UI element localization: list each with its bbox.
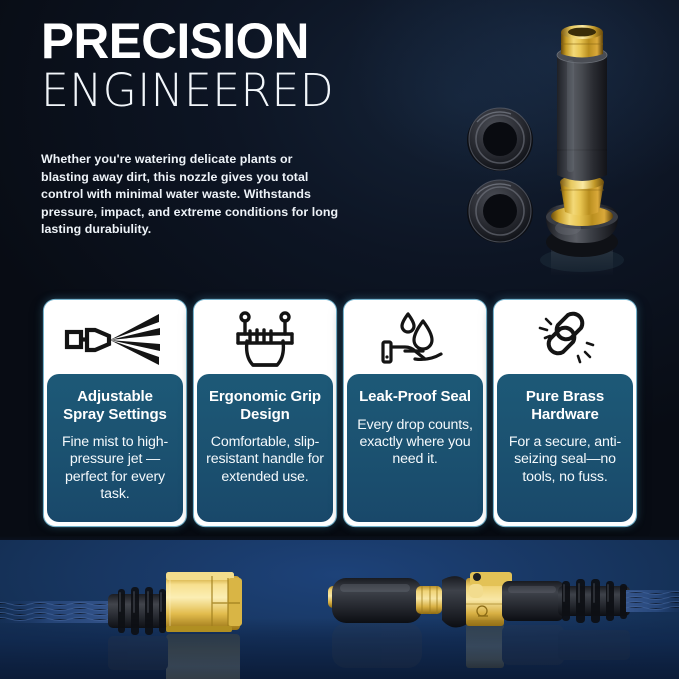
product-infographic: PRECISION ENGINEERED Whether you're wate…: [0, 0, 679, 679]
brass-base-ring: [551, 175, 613, 226]
feature-card-title: Adjustable Spray Settings: [55, 388, 175, 423]
spray-nozzle-icon: [44, 300, 186, 380]
chain-link-sparkle-icon: [494, 300, 636, 380]
hose-nozzle-scene-right: [306, 548, 679, 679]
strain-relief: [108, 587, 168, 635]
gripping-hand-icon: [194, 300, 336, 380]
feature-card-description: Comfortable, slip-resistant handle for e…: [205, 434, 325, 486]
feature-card-title: Ergonomic Grip Design: [205, 388, 325, 423]
hose-fabric-right: [626, 590, 679, 612]
headline: PRECISION ENGINEERED: [41, 18, 441, 113]
hero-product-image: [455, 10, 679, 290]
headline-line-2: ENGINEERED: [41, 68, 433, 113]
nozzle-barrel: [328, 578, 442, 623]
feature-card-body: Adjustable Spray Settings Fine mist to h…: [47, 374, 183, 522]
hose-collar: [502, 581, 564, 621]
feature-card-ergonomic-grip[interactable]: Ergonomic Grip Design Comfortable, slip-…: [194, 300, 336, 526]
feature-card-body: Ergonomic Grip Design Comfortable, slip-…: [197, 374, 333, 522]
intro-paragraph: Whether you're watering delicate plants …: [41, 151, 341, 239]
brass-coupler: [166, 572, 242, 632]
feature-card-description: Every drop counts, exactly where you nee…: [355, 417, 475, 469]
feature-card-title: Leak-Proof Seal: [355, 388, 475, 406]
washer-ring-lower: [467, 180, 533, 243]
brass-shutoff-valve: [442, 572, 512, 628]
brass-collar: [561, 25, 603, 58]
feature-card-description: Fine mist to high-pressure jet — perfect…: [55, 434, 175, 503]
headline-line-1: PRECISION: [41, 18, 437, 66]
hand-water-drop-icon: [344, 300, 486, 380]
strain-relief-right: [558, 579, 630, 623]
feature-card-adjustable-spray[interactable]: Adjustable Spray Settings Fine mist to h…: [44, 300, 186, 526]
feature-card-leak-proof-seal[interactable]: Leak-Proof Seal Every drop counts, exact…: [344, 300, 486, 526]
feature-card-description: For a secure, anti-seizing seal—no tools…: [505, 434, 625, 486]
washer-ring-upper: [467, 108, 533, 171]
feature-card-pure-brass[interactable]: Pure Brass Hardware For a secure, anti-s…: [494, 300, 636, 526]
feature-cards: Adjustable Spray Settings Fine mist to h…: [44, 300, 636, 526]
nozzle-body: [557, 47, 607, 181]
feature-card-title: Pure Brass Hardware: [505, 388, 625, 423]
feature-card-body: Pure Brass Hardware For a secure, anti-s…: [497, 374, 633, 522]
hose-fabric: [0, 601, 120, 623]
feature-card-body: Leak-Proof Seal Every drop counts, exact…: [347, 374, 483, 522]
hose-connector-scene-left: [0, 548, 320, 679]
